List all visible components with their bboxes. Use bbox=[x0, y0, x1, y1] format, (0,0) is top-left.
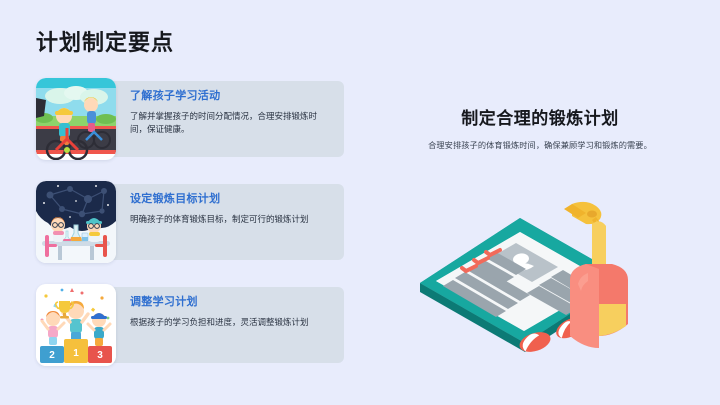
card-heading: 了解孩子学习活动 bbox=[130, 87, 334, 103]
right-panel-subtitle: 合理安排孩子的体育锻炼时间，确保兼顾学习和锻炼的需要。 bbox=[380, 139, 700, 151]
podium-label-third: 3 bbox=[97, 350, 103, 361]
list-item[interactable]: 2 1 3 调整学习计划 根据孩子的学习负担和进度，灵活调整锻炼计划 bbox=[36, 284, 344, 366]
cards-list: 了解孩子学习活动 了解并掌握孩子的时间分配情况，合理安排锻炼时间，保证健康。 bbox=[36, 78, 344, 387]
card-description: 根据孩子的学习负担和进度，灵活调整锻炼计划 bbox=[130, 316, 330, 329]
podium-label-first: 1 bbox=[73, 348, 79, 359]
kids-cycling-icon bbox=[36, 78, 116, 160]
card-heading: 设定锻炼目标计划 bbox=[130, 190, 334, 206]
card-description: 明确孩子的体育锻炼目标，制定可行的锻炼计划 bbox=[130, 213, 330, 226]
right-panel-heading: 制定合理的锻炼计划 bbox=[380, 104, 700, 129]
card-description: 了解并掌握孩子的时间分配情况，合理安排锻炼时间，保证健康。 bbox=[130, 110, 330, 136]
clipboard-checklist-medicine-bottle-icon bbox=[420, 180, 700, 395]
page-title: 计划制定要点 bbox=[36, 25, 174, 57]
list-item[interactable]: 了解孩子学习活动 了解并掌握孩子的时间分配情况，合理安排锻炼时间，保证健康。 bbox=[36, 78, 344, 160]
kids-science-lab-icon bbox=[36, 181, 116, 263]
card-text: 调整学习计划 根据孩子的学习负担和进度，灵活调整锻炼计划 bbox=[130, 293, 334, 329]
slide-root: 计划制定要点 bbox=[0, 0, 720, 405]
card-text: 设定锻炼目标计划 明确孩子的体育锻炼目标，制定可行的锻炼计划 bbox=[130, 190, 334, 226]
podium-label-second: 2 bbox=[49, 350, 55, 361]
list-item[interactable]: 设定锻炼目标计划 明确孩子的体育锻炼目标，制定可行的锻炼计划 bbox=[36, 181, 344, 263]
card-text: 了解孩子学习活动 了解并掌握孩子的时间分配情况，合理安排锻炼时间，保证健康。 bbox=[130, 87, 334, 136]
card-heading: 调整学习计划 bbox=[130, 293, 334, 309]
kids-podium-trophy-icon: 2 1 3 bbox=[36, 284, 116, 366]
